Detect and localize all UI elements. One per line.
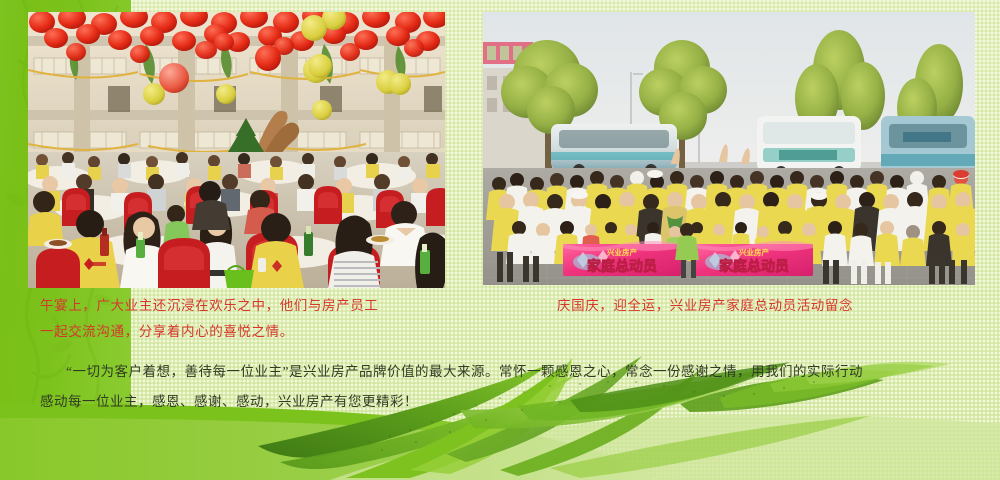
caption-left-line-1: 午宴上，广大业主还沉浸在欢乐之中，他们与房产员工 [40, 293, 378, 319]
body-paragraph: “一切为客户着想，善待每一位业主”是兴业房产品牌价值的最大来源。常怀一颗感恩之心… [40, 357, 960, 417]
group-photo: 兴业房产 家庭总动员 兴业房产 家庭总动员 [483, 12, 975, 285]
body-line-2-text: 感动每一位业主，感恩、感谢、感动，兴业房产有您更精彩！ [40, 394, 418, 409]
body-line-1: “一切为客户着想，善待每一位业主”是兴业房产品牌价值的最大来源。常怀一颗感恩之心… [40, 357, 960, 387]
banquet-photo-caption: 午宴上，广大业主还沉浸在欢乐之中，他们与房产员工 一起交流沟通，分享着内心的喜悦… [40, 293, 378, 345]
body-line-2: 感动每一位业主，感恩、感谢、感动，兴业房产有您更精彩！ [40, 387, 960, 417]
page-root: 兴业房产 家庭总动员 兴业房产 家庭总动员 [0, 0, 1000, 480]
caption-right-line-1: 庆国庆，迎全运，兴业房产家庭总动员活动留念 [557, 293, 853, 319]
group-photo-caption: 庆国庆，迎全运，兴业房产家庭总动员活动留念 [557, 293, 853, 319]
banquet-photo [28, 12, 445, 288]
caption-left-line-2: 一起交流沟通，分享着内心的喜悦之情。 [40, 319, 378, 345]
body-line-1-text: “一切为客户着想，善待每一位业主”是兴业房产品牌价值的最大来源。常怀一颗感恩之心… [66, 364, 863, 379]
